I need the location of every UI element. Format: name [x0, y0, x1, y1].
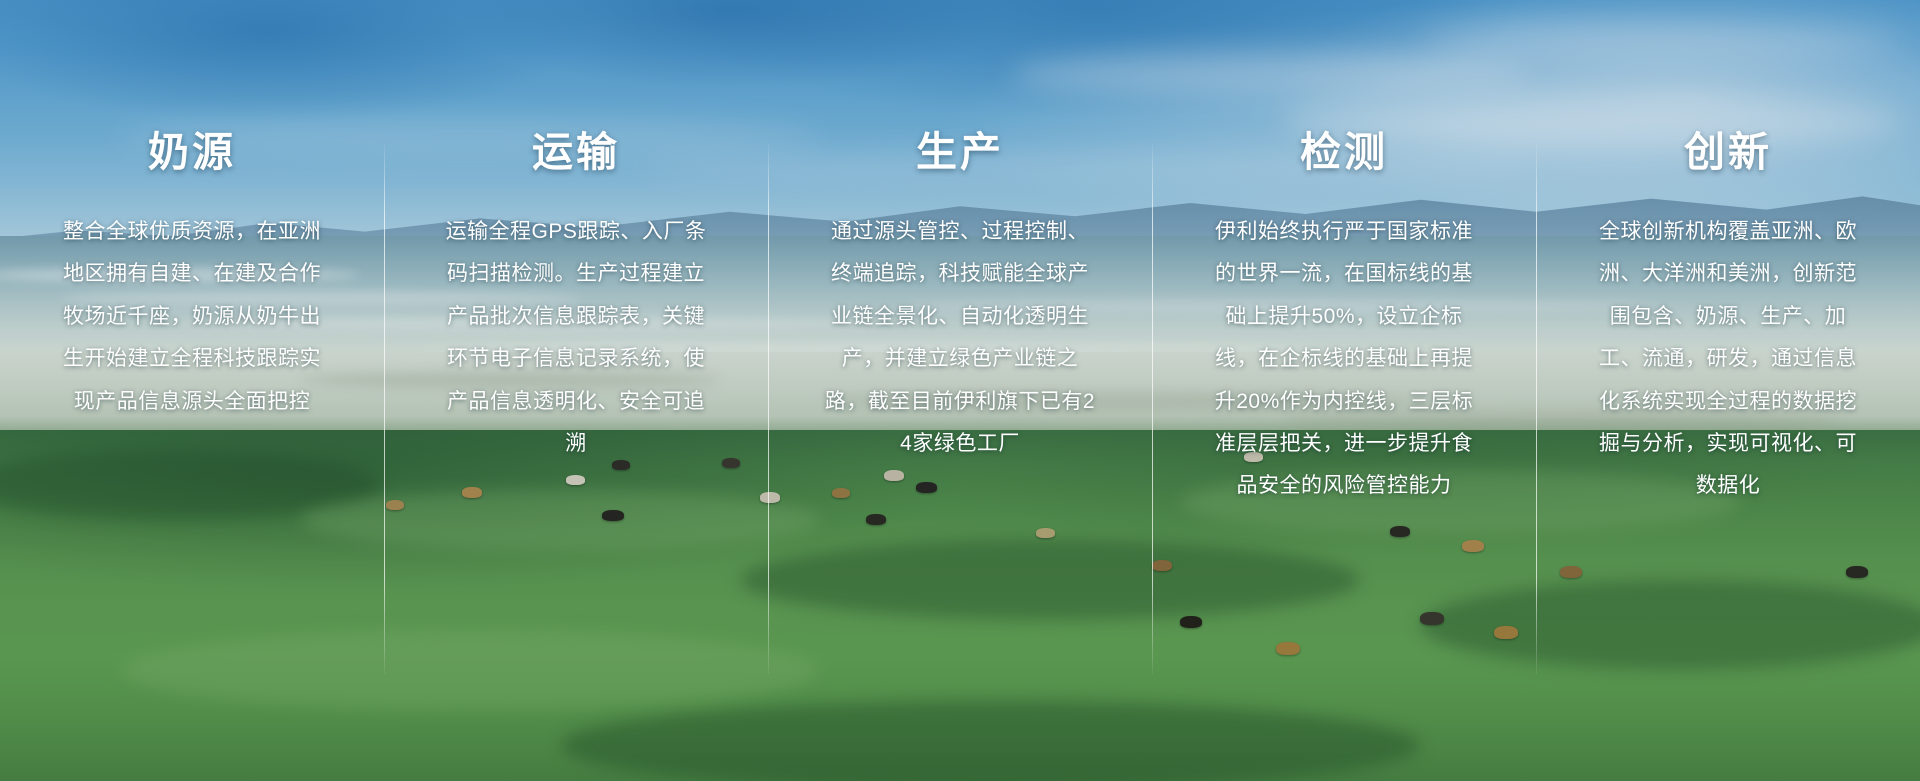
feature-column-innovation: 创新 全球创新机构覆盖亚洲、欧洲、大洋洲和美洲，创新范围包含、奶源、生产、加工、… [1536, 132, 1920, 508]
banner-stage: 奶源 整合全球优质资源，在亚洲地区拥有自建、在建及合作牧场近千座，奶源从奶牛出生… [0, 0, 1920, 781]
column-title: 生产 [916, 132, 1004, 173]
feature-columns: 奶源 整合全球优质资源，在亚洲地区拥有自建、在建及合作牧场近千座，奶源从奶牛出生… [0, 0, 1920, 781]
feature-column-inspection: 检测 伊利始终执行严于国家标准的世界一流，在国标线的基础上提升50%，设立企标线… [1152, 132, 1536, 508]
column-body: 通过源头管控、过程控制、终端追踪，科技赋能全球产业链全景化、自动化透明生产，并建… [822, 211, 1098, 465]
column-title: 创新 [1684, 132, 1772, 173]
column-title: 检测 [1300, 132, 1388, 173]
feature-column-transport: 运输 运输全程GPS跟踪、入厂条码扫描检测。生产过程建立产品批次信息跟踪表，关键… [384, 132, 768, 465]
column-body: 全球创新机构覆盖亚洲、欧洲、大洋洲和美洲，创新范围包含、奶源、生产、加工、流通，… [1590, 211, 1866, 508]
column-body: 伊利始终执行严于国家标准的世界一流，在国标线的基础上提升50%，设立企标线，在企… [1206, 211, 1482, 508]
column-title: 奶源 [148, 132, 236, 173]
column-title: 运输 [532, 132, 620, 173]
feature-column-milk-source: 奶源 整合全球优质资源，在亚洲地区拥有自建、在建及合作牧场近千座，奶源从奶牛出生… [0, 132, 384, 423]
feature-column-production: 生产 通过源头管控、过程控制、终端追踪，科技赋能全球产业链全景化、自动化透明生产… [768, 132, 1152, 465]
column-body: 运输全程GPS跟踪、入厂条码扫描检测。生产过程建立产品批次信息跟踪表，关键环节电… [438, 211, 714, 465]
column-body: 整合全球优质资源，在亚洲地区拥有自建、在建及合作牧场近千座，奶源从奶牛出生开始建… [54, 211, 330, 423]
